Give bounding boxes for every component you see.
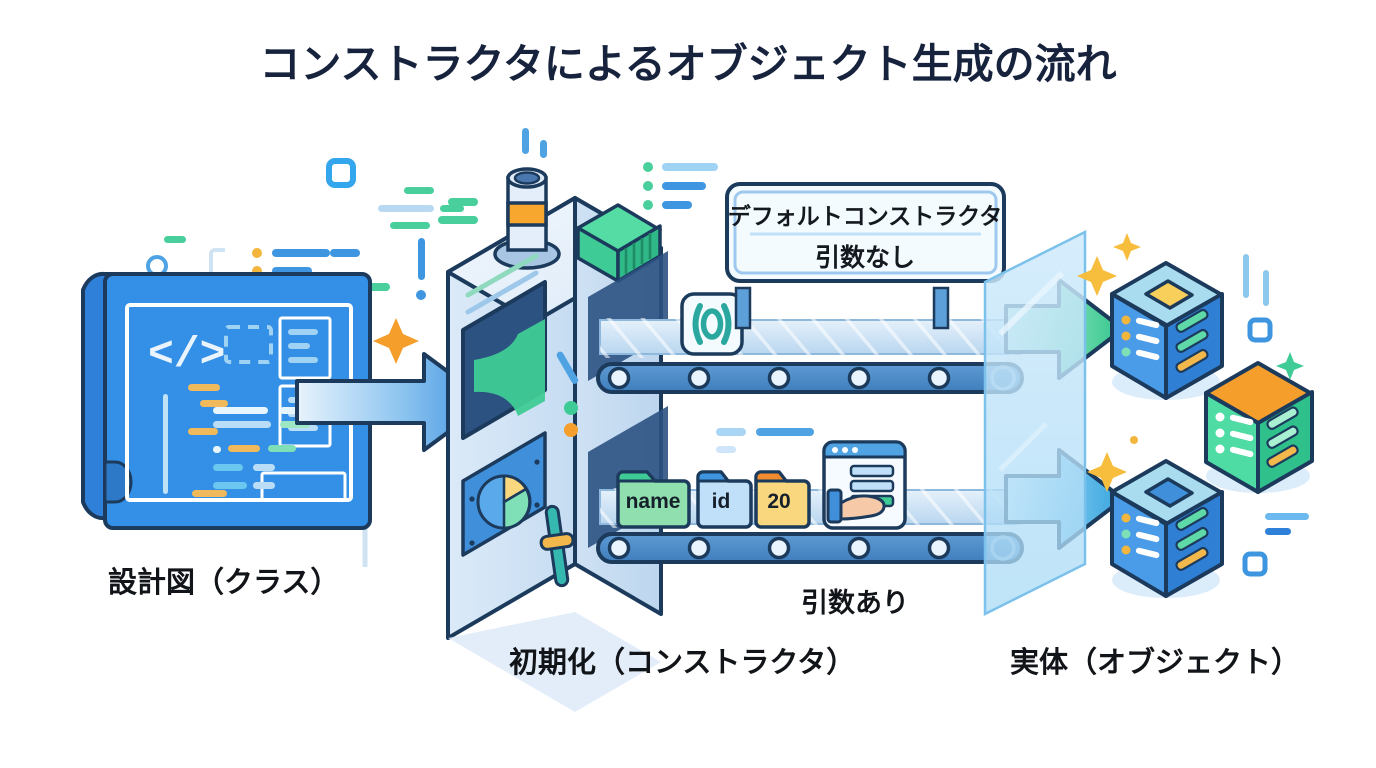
args-label: 引数あり xyxy=(801,588,909,618)
glass-panel xyxy=(985,232,1085,614)
code-brackets-icon: </> xyxy=(148,330,225,379)
default-constructor-sign: デフォルトコンストラクタ 引数なし xyxy=(727,184,1004,328)
arg-folder-name: name xyxy=(618,472,689,527)
object-cube-1 xyxy=(1112,263,1222,400)
hand-offering-card xyxy=(824,442,905,528)
constructor-flow-illustration: </> 設計図（クラス） xyxy=(0,0,1376,768)
machine-label: 初期化（コンストラクタ） xyxy=(509,645,855,679)
arg-folder-20-label: 20 xyxy=(767,490,790,513)
empty-args-icon xyxy=(682,294,742,354)
arg-folder-name-label: name xyxy=(626,490,681,513)
arg-folder-id-label: id xyxy=(712,490,731,513)
diagram-canvas: </> 設計図（クラス） xyxy=(0,0,1376,768)
arg-folder-id: id xyxy=(698,472,751,527)
page-title: コンストラクタによるオブジェクト生成の流れ xyxy=(259,41,1116,87)
sign-line-2: 引数なし xyxy=(815,244,915,272)
decor-mid xyxy=(716,428,814,453)
blueprint-label: 設計図（クラス） xyxy=(108,565,339,599)
object-cube-3 xyxy=(1112,461,1222,598)
objects-label: 実体（オブジェクト） xyxy=(1010,645,1300,679)
sign-line-1: デフォルトコンストラクタ xyxy=(728,203,1003,229)
object-cube-2 xyxy=(1206,363,1312,493)
arg-folder-20: 20 xyxy=(756,472,809,527)
